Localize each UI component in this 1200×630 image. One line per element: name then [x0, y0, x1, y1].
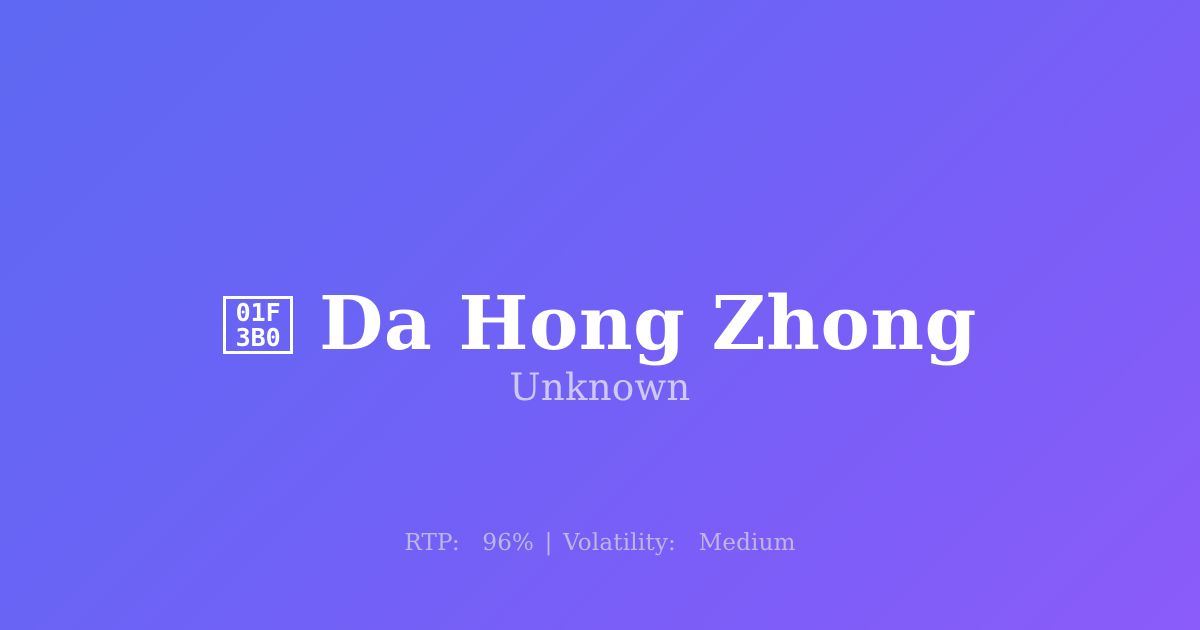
rtp-value: 96%	[482, 530, 534, 556]
rtp-label: RTP:	[404, 530, 459, 556]
game-stats-line: RTP: 96% | Volatility: Medium	[0, 528, 1200, 558]
slot-machine-icon-codepoint-bottom: 3B0	[236, 325, 281, 350]
slot-machine-icon: 01F 3B0	[223, 296, 293, 354]
provider-label: Unknown	[0, 365, 1200, 411]
volatility-label: Volatility:	[563, 530, 676, 556]
volatility-value: Medium	[699, 530, 796, 556]
page-title: Da Hong Zhong	[319, 282, 977, 366]
stats-separator: |	[542, 530, 556, 556]
game-share-card: 01F 3B0 Da Hong Zhong Unknown RTP: 96% |…	[0, 0, 1200, 630]
slot-machine-icon-codepoint-top: 01F	[236, 300, 281, 325]
